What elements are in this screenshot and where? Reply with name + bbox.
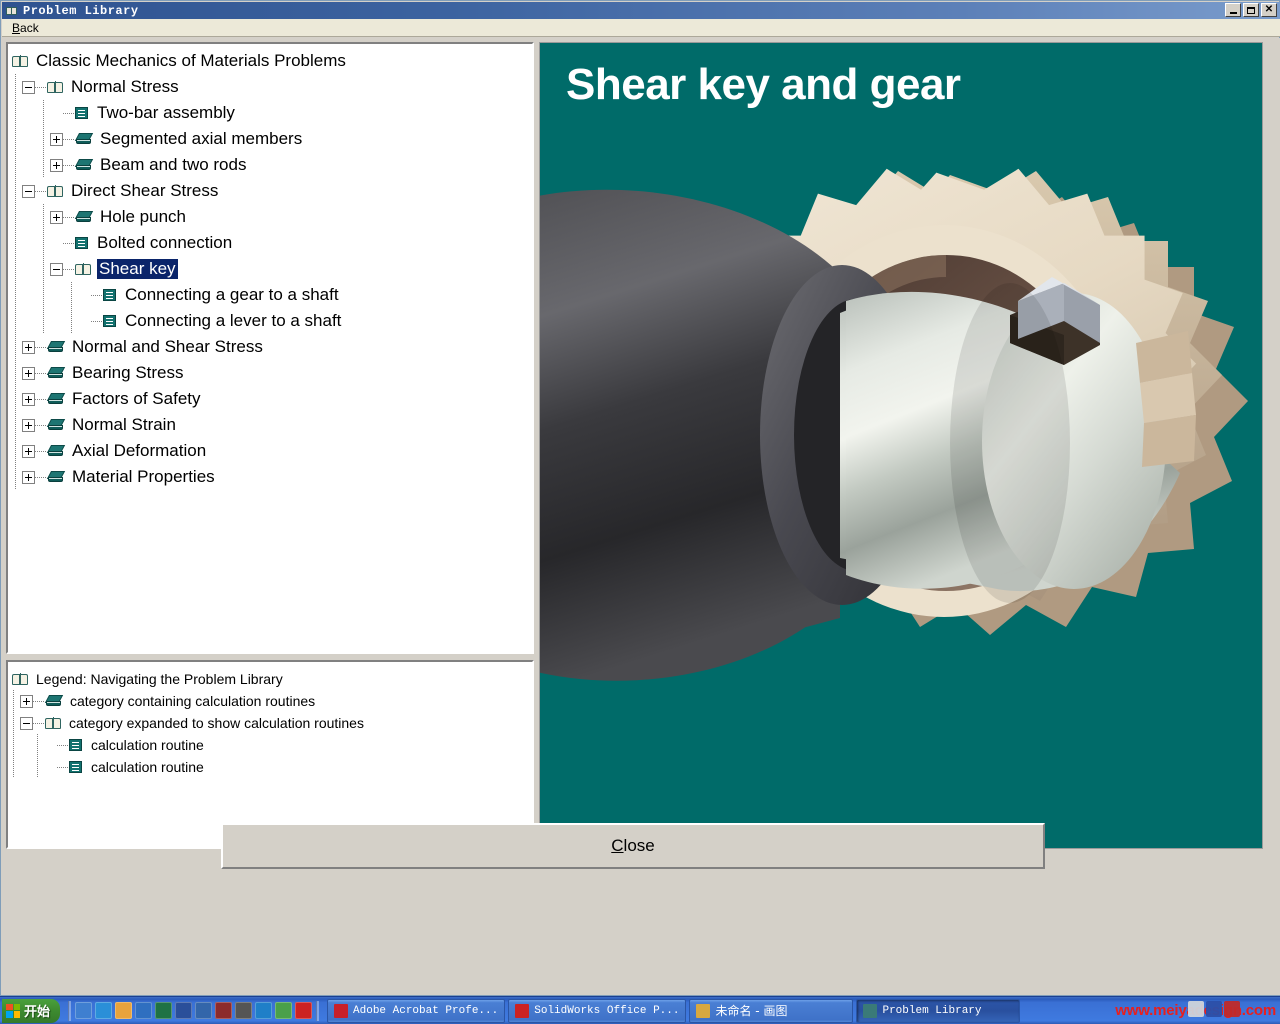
tree-guide-line xyxy=(15,386,16,412)
tree-node-label: Bolted connection xyxy=(95,233,234,253)
tree-indent xyxy=(8,282,78,308)
shear-key-and-gear-illustration xyxy=(540,43,1262,848)
open-book-icon xyxy=(47,80,64,94)
tree-guide-line xyxy=(15,308,16,334)
tree-guide-line xyxy=(15,126,16,152)
tray-icon-3[interactable] xyxy=(1224,1001,1240,1017)
tree-connector-line xyxy=(63,269,75,270)
tree-connector-line xyxy=(35,191,47,192)
title-bar: Problem Library ✕ xyxy=(2,2,1280,19)
task-icon xyxy=(696,1004,710,1018)
tree-node-row[interactable]: Normal Stress xyxy=(8,74,532,100)
tree-connector-line xyxy=(57,767,69,768)
tree-node-row[interactable]: Normal Strain xyxy=(8,412,532,438)
tree-connector-line xyxy=(57,745,69,746)
window-controls: ✕ xyxy=(1225,3,1277,17)
tree-node-label: Bearing Stress xyxy=(70,363,186,383)
book-icon xyxy=(47,392,65,406)
tree-node-row[interactable]: Connecting a lever to a shaft xyxy=(8,308,532,334)
tree-indent xyxy=(8,334,22,360)
tree-guide-line xyxy=(13,734,14,756)
problem-library-window: Problem Library ✕ Back Classic Mechanics… xyxy=(0,0,1280,996)
gear-foreground-teeth xyxy=(1136,331,1196,467)
tree-node-row[interactable]: Bolted connection xyxy=(8,230,532,256)
window-close-button[interactable]: ✕ xyxy=(1261,3,1277,17)
restore-button[interactable] xyxy=(1243,3,1259,17)
routine-icon xyxy=(69,760,84,774)
open-book-icon xyxy=(12,54,29,68)
book-icon xyxy=(47,444,65,458)
tree-guide-line xyxy=(71,282,72,308)
tree-node-row[interactable]: Bearing Stress xyxy=(8,360,532,386)
tree-connector-line xyxy=(63,139,75,140)
tree-indent xyxy=(8,438,22,464)
photo-editor-icon[interactable] xyxy=(195,1002,212,1019)
volume-icon[interactable] xyxy=(275,1002,292,1019)
task-icon xyxy=(334,1004,348,1018)
tree-guide-line xyxy=(43,126,44,152)
start-label: 开始 xyxy=(24,1001,50,1020)
close-button[interactable]: Close xyxy=(221,823,1045,869)
tree-indent xyxy=(8,464,22,490)
windows-flag-icon xyxy=(6,1004,20,1018)
task-label: 未命名 - 画图 xyxy=(715,1002,787,1019)
task-label: Problem Library xyxy=(882,1005,981,1017)
tree-guide-line xyxy=(15,464,16,490)
legend-node-label: category expanded to show calculation ro… xyxy=(67,713,366,733)
illustration-heading: Shear key and gear xyxy=(566,60,961,110)
window-title: Problem Library xyxy=(23,4,139,18)
routine-icon xyxy=(103,288,118,302)
expand-node-icon[interactable] xyxy=(22,367,35,380)
routine-icon xyxy=(75,236,90,250)
tree-connector-line xyxy=(35,425,47,426)
tree-guide-line xyxy=(43,100,44,126)
tray-icon-1[interactable] xyxy=(1188,1001,1204,1017)
tree-connector-line xyxy=(63,113,75,114)
tree-indent xyxy=(8,412,22,438)
expand-node-icon[interactable] xyxy=(22,445,35,458)
tree-node-row[interactable]: Shear key xyxy=(8,256,532,282)
collapse-node-icon[interactable] xyxy=(20,717,33,730)
tree-connector-line xyxy=(35,399,47,400)
collapse-node-icon[interactable] xyxy=(22,81,35,94)
tree-node-row[interactable]: Factors of Safety xyxy=(8,386,532,412)
tree-connector-line xyxy=(91,295,103,296)
tree-indent xyxy=(8,152,50,178)
expand-node-icon[interactable] xyxy=(22,419,35,432)
taskbar: 开始 Adobe Acrobat Profe...SolidWorks Offi… xyxy=(0,996,1280,1024)
problem-tree: Classic Mechanics of Materials ProblemsN… xyxy=(8,44,532,490)
legend-node-label: category containing calculation routines xyxy=(68,691,317,711)
tree-node-row[interactable]: Material Properties xyxy=(8,464,532,490)
tree-node-label: Material Properties xyxy=(70,467,217,487)
tree-guide-line xyxy=(15,438,16,464)
tree-node-label: Connecting a lever to a shaft xyxy=(123,311,343,331)
tree-connector-line xyxy=(63,243,75,244)
tree-guide-line xyxy=(43,282,44,308)
tree-node-label: Factors of Safety xyxy=(70,389,203,409)
autocad-icon[interactable] xyxy=(235,1002,252,1019)
tree-node-row[interactable]: Beam and two rods xyxy=(8,152,532,178)
solidworks-icon[interactable] xyxy=(295,1002,312,1019)
access-icon[interactable] xyxy=(215,1002,232,1019)
routine-icon xyxy=(69,738,84,752)
tree-expander-spacer xyxy=(44,739,57,752)
internet-explorer-icon[interactable] xyxy=(95,1002,112,1019)
collapse-node-icon[interactable] xyxy=(22,185,35,198)
open-book-icon xyxy=(47,184,64,198)
book-icon xyxy=(47,470,65,484)
routine-icon xyxy=(75,106,90,120)
legend-node-label: calculation routine xyxy=(89,757,206,777)
tree-guide-line xyxy=(43,152,44,178)
tree-expander-spacer xyxy=(78,315,91,328)
expand-node-icon[interactable] xyxy=(50,211,63,224)
tree-indent xyxy=(8,230,50,256)
menu-item-back[interactable]: Back xyxy=(8,20,43,36)
book-icon xyxy=(75,132,93,146)
tree-node-label: Beam and two rods xyxy=(98,155,248,175)
tree-connector-line xyxy=(91,321,103,322)
acdsee-icon[interactable] xyxy=(255,1002,272,1019)
tree-guide-line xyxy=(15,256,16,282)
tree-expander-spacer xyxy=(78,289,91,302)
tree-guide-line xyxy=(13,712,14,734)
minimize-button[interactable] xyxy=(1225,3,1241,17)
illustration-panel: Shear key and gear xyxy=(539,42,1263,849)
tree-indent xyxy=(8,386,22,412)
taskbar-task-button[interactable]: SolidWorks Office P... xyxy=(508,999,686,1023)
legend-node-row[interactable]: calculation routine xyxy=(8,734,532,756)
tree-guide-line xyxy=(15,230,16,256)
tree-guide-line xyxy=(15,334,16,360)
word-icon[interactable] xyxy=(175,1002,192,1019)
tree-connector-line xyxy=(35,373,47,374)
menu-accel: B xyxy=(12,21,20,35)
task-icon xyxy=(863,1004,877,1018)
tree-guide-line xyxy=(15,282,16,308)
tree-node-label: Axial Deformation xyxy=(70,441,208,461)
tree-connector-line xyxy=(33,723,45,724)
tree-guide-line xyxy=(15,100,16,126)
legend-node-row[interactable]: category expanded to show calculation ro… xyxy=(8,712,532,734)
tree-guide-line xyxy=(13,756,14,778)
tree-indent xyxy=(8,126,50,152)
tree-node-label: Normal Strain xyxy=(70,415,178,435)
tree-indent xyxy=(8,734,44,756)
tree-node-label: Segmented axial members xyxy=(98,129,304,149)
taskbar-separator xyxy=(68,1001,71,1021)
expand-node-icon[interactable] xyxy=(50,159,63,172)
tree-node-label: Classic Mechanics of Materials Problems xyxy=(34,51,348,71)
tree-guide-line xyxy=(37,756,38,778)
tree-guide-line xyxy=(43,204,44,230)
tree-indent xyxy=(8,712,20,734)
tree-connector-line xyxy=(35,87,47,88)
tree-node-label: Connecting a gear to a shaft xyxy=(123,285,341,305)
tree-indent xyxy=(8,756,44,778)
legend-node-label: calculation routine xyxy=(89,735,206,755)
tree-connector-line xyxy=(35,347,47,348)
tree-node-label: Normal Stress xyxy=(69,77,181,97)
book-icon xyxy=(75,210,93,224)
tree-guide-line xyxy=(43,256,44,282)
routine-icon xyxy=(103,314,118,328)
problem-tree-panel[interactable]: Classic Mechanics of Materials ProblemsN… xyxy=(6,42,534,654)
tree-node-row[interactable]: Two-bar assembly xyxy=(8,100,532,126)
open-book-icon xyxy=(45,716,62,730)
content-area: Classic Mechanics of Materials ProblemsN… xyxy=(2,38,1280,995)
expand-node-icon[interactable] xyxy=(20,695,33,708)
tree-guide-line xyxy=(15,412,16,438)
show-desktop-icon[interactable] xyxy=(135,1002,152,1019)
expand-node-icon[interactable] xyxy=(22,393,35,406)
tree-connector-line xyxy=(35,451,47,452)
menu-rest: ack xyxy=(20,21,39,35)
expand-node-icon[interactable] xyxy=(22,341,35,354)
tree-indent xyxy=(8,100,50,126)
tree-node-row[interactable]: Axial Deformation xyxy=(8,438,532,464)
tree-indent xyxy=(8,204,50,230)
open-book-icon xyxy=(75,262,92,276)
media-player-icon[interactable] xyxy=(115,1002,132,1019)
expand-node-icon[interactable] xyxy=(50,133,63,146)
tree-node-label: Direct Shear Stress xyxy=(69,181,220,201)
tree-guide-line xyxy=(37,734,38,756)
system-tray: www.meiyadesign.com xyxy=(1276,997,1280,1024)
tree-guide-line xyxy=(43,230,44,256)
tree-expander-spacer xyxy=(50,237,63,250)
taskbar-separator-2 xyxy=(316,1001,319,1021)
legend-node-row[interactable]: calculation routine xyxy=(8,756,532,778)
tree-guide-line xyxy=(15,74,16,100)
book-icon xyxy=(45,694,63,708)
legend-tree: Legend: Navigating the Problem Libraryca… xyxy=(8,664,532,778)
tree-guide-line xyxy=(15,152,16,178)
tree-node-row[interactable]: Classic Mechanics of Materials Problems xyxy=(8,48,532,74)
tree-node-row[interactable]: Normal and Shear Stress xyxy=(8,334,532,360)
book-icon xyxy=(47,366,65,380)
expand-node-icon[interactable] xyxy=(22,471,35,484)
tray-icon-2[interactable] xyxy=(1206,1001,1222,1017)
task-label: Adobe Acrobat Profe... xyxy=(353,1005,498,1017)
taskbar-task-button[interactable]: Problem Library xyxy=(856,999,1020,1023)
tray-icon-list xyxy=(1188,1001,1240,1017)
tree-node-label: Hole punch xyxy=(98,207,188,227)
tree-expander-spacer xyxy=(50,107,63,120)
book-icon xyxy=(75,158,93,172)
close-accel: C xyxy=(611,836,623,856)
tree-guide-line xyxy=(43,308,44,334)
legend-node-row[interactable]: category containing calculation routines xyxy=(8,690,532,712)
tree-guide-line xyxy=(15,178,16,204)
menu-bar: Back xyxy=(2,19,1280,37)
tree-connector-line xyxy=(33,701,45,702)
tree-node-label: Shear key xyxy=(97,259,178,279)
tree-connector-line xyxy=(35,477,47,478)
tree-node-row[interactable]: Segmented axial members xyxy=(8,126,532,152)
open-book-icon xyxy=(12,672,29,686)
legend-node-row[interactable]: Legend: Navigating the Problem Library xyxy=(8,668,532,690)
close-rest: lose xyxy=(624,836,655,856)
tree-node-row[interactable]: Connecting a gear to a shaft xyxy=(8,282,532,308)
tree-node-label: Normal and Shear Stress xyxy=(70,337,265,357)
quick-launch-bar xyxy=(75,1002,312,1019)
tree-node-row[interactable]: Hole punch xyxy=(8,204,532,230)
taskbar-task-button[interactable]: Adobe Acrobat Profe... xyxy=(327,999,505,1023)
tree-indent xyxy=(8,74,22,100)
tree-guide-line xyxy=(71,308,72,334)
book-icon xyxy=(47,340,65,354)
tree-connector-line xyxy=(63,217,75,218)
legend-panel: Legend: Navigating the Problem Libraryca… xyxy=(6,660,534,849)
task-label: SolidWorks Office P... xyxy=(534,1005,679,1017)
taskbar-task-button[interactable]: 未命名 - 画图 xyxy=(689,999,853,1023)
tree-guide-line xyxy=(15,204,16,230)
legend-node-label: Legend: Navigating the Problem Library xyxy=(34,669,285,689)
tree-indent xyxy=(8,360,22,386)
excel-icon[interactable] xyxy=(155,1002,172,1019)
window-book-icon xyxy=(5,4,19,18)
tree-indent xyxy=(8,308,78,334)
book-icon xyxy=(47,418,65,432)
tree-indent xyxy=(8,256,50,282)
task-icon xyxy=(515,1004,529,1018)
tree-guide-line xyxy=(13,690,14,712)
outlook-express-icon[interactable] xyxy=(75,1002,92,1019)
tree-node-label: Two-bar assembly xyxy=(95,103,237,123)
tree-connector-line xyxy=(63,165,75,166)
start-button[interactable]: 开始 xyxy=(2,999,60,1023)
collapse-node-icon[interactable] xyxy=(50,263,63,276)
tree-guide-line xyxy=(15,360,16,386)
tree-indent xyxy=(8,178,22,204)
tree-expander-spacer xyxy=(44,761,57,774)
tree-node-row[interactable]: Direct Shear Stress xyxy=(8,178,532,204)
tree-indent xyxy=(8,690,20,712)
